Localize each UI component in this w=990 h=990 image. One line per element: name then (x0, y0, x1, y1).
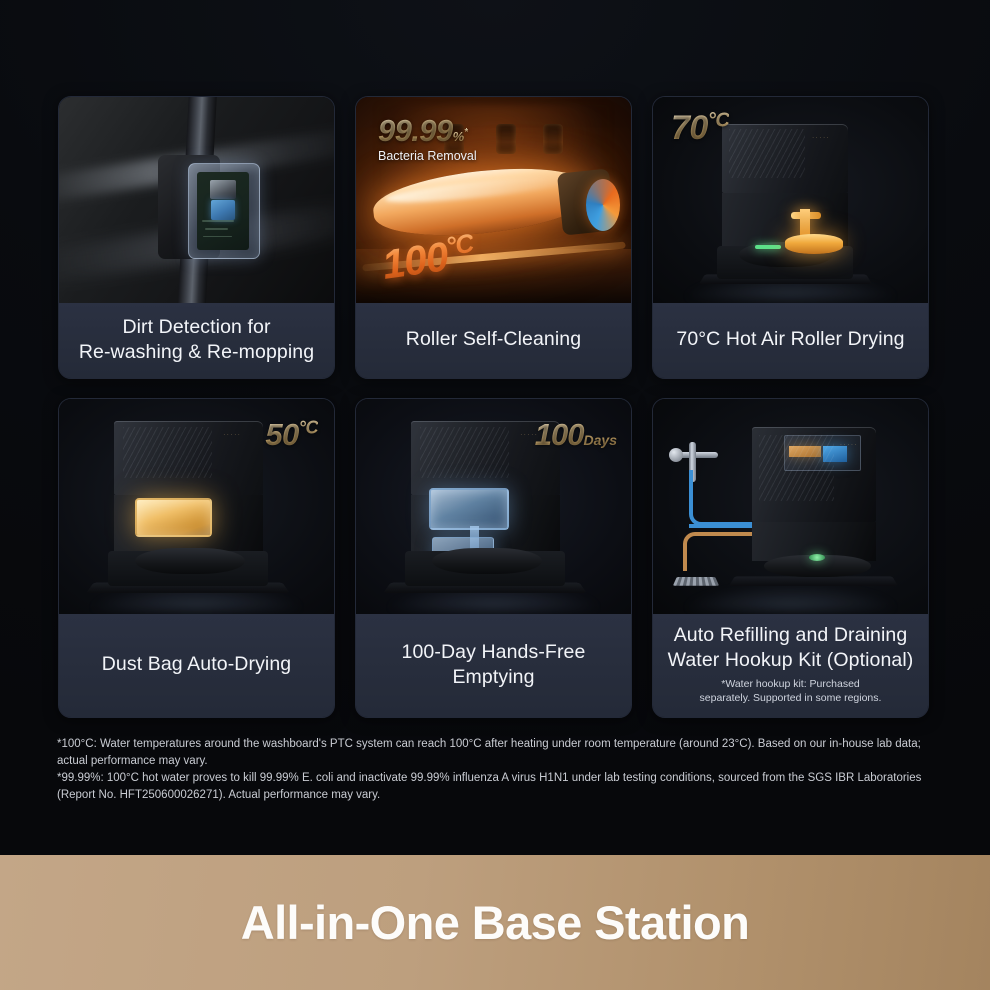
station-mat (729, 577, 898, 587)
large-dust-bag (429, 488, 509, 530)
feature-card-hands-free-emptying[interactable]: ····· 100Days 1 (355, 398, 632, 718)
dirty-water-tank (789, 446, 821, 457)
base-station: ····· (722, 124, 849, 289)
sensor-chip (211, 200, 235, 220)
heated-roller (785, 234, 843, 254)
spray-nozzle (543, 124, 563, 154)
feature-card-roller-self-cleaning[interactable]: 99.99%* Bacteria Removal 100°C Roller Se… (355, 96, 632, 379)
feature-card-auto-refilling-draining[interactable]: ····· Auto Refilling and Draining Water … (652, 398, 929, 718)
base-station: ····· (114, 421, 263, 597)
dirt-sensor-housing (188, 163, 260, 259)
feature-card-grid: Dirt Detection for Re-washing & Re-moppi… (58, 96, 934, 718)
base-station: ····· (752, 427, 876, 590)
faucet-knob (669, 448, 683, 462)
spray-nozzle (444, 124, 464, 154)
status-led (755, 245, 781, 249)
card-disclaimer: *Water hookup kit: Purchased separately.… (700, 678, 882, 706)
dust-bag-capacity-illustration: ····· (356, 399, 631, 614)
station-top-panel: ····· (114, 421, 263, 495)
footnotes: *100°C: Water temperatures around the wa… (57, 736, 933, 804)
station-top-panel: ····· (722, 124, 849, 193)
temperature-ring-icon (586, 179, 620, 231)
circuit-board (197, 172, 249, 250)
brand-logo: ····· (812, 135, 830, 141)
pcb-trace (203, 236, 231, 238)
card-caption-auto-refilling-draining: Auto Refilling and Draining Water Hookup… (653, 614, 928, 717)
dust-bag-drying-illustration: ····· (59, 399, 334, 614)
card-image-hands-free-emptying: ····· 100Days (356, 399, 631, 614)
robot-vacuum (432, 548, 542, 574)
disclaimer-line-2: separately. Supported in some regions. (700, 692, 882, 704)
robot-vacuum (135, 548, 245, 574)
sensor-module-illustration (59, 97, 334, 303)
spray-nozzle (496, 124, 516, 154)
hot-roller-illustration (356, 97, 631, 303)
bottom-banner: All-in-One Base Station (0, 855, 990, 990)
caption-line-1: Dust Bag Auto-Drying (102, 652, 292, 677)
brand-logo: ····· (520, 432, 538, 438)
caption-line-1: Dirt Detection for (122, 316, 270, 338)
water-hookup-illustration: ····· (653, 399, 928, 614)
feature-card-dirt-detection[interactable]: Dirt Detection for Re-washing & Re-moppi… (58, 96, 335, 379)
station-top-panel: ····· (752, 427, 876, 522)
footnote-9999: *99.99%: 100°C hot water proves to kill … (57, 770, 933, 803)
page-root: Dirt Detection for Re-washing & Re-moppi… (0, 0, 990, 990)
feature-card-hot-air-roller-drying[interactable]: ····· 70°C 70 (652, 96, 929, 379)
floor-drain (673, 577, 719, 586)
sensor-lens (210, 180, 236, 199)
card-image-hot-air-roller-drying: ····· 70°C (653, 97, 928, 303)
base-station: ····· (411, 421, 560, 597)
brand-logo: ····· (223, 432, 241, 438)
caption-line-1: 70°C Hot Air Roller Drying (676, 327, 904, 352)
card-caption-dirt-detection: Dirt Detection for Re-washing & Re-moppi… (59, 303, 334, 378)
caption-line-2: Water Hookup Kit (Optional) (668, 649, 914, 671)
caption-line-2: Re-washing & Re-mopping (79, 341, 314, 363)
disclaimer-line-1: *Water hookup kit: Purchased (721, 678, 860, 690)
card-caption-hands-free-emptying: 100-Day Hands-Free Emptying (356, 614, 631, 717)
feature-card-dust-bag-auto-drying[interactable]: ····· 50°C Dust Bag Auto-Drying (58, 398, 335, 718)
card-image-dirt-detection (59, 97, 334, 303)
base-station-drying-illustration: ····· (653, 97, 928, 303)
card-caption-dust-bag-auto-drying: Dust Bag Auto-Drying (59, 614, 334, 717)
pcb-trace (202, 220, 233, 222)
tank-window (784, 435, 861, 471)
glowing-dust-bag (135, 498, 212, 537)
caption-line-1: Roller Self-Cleaning (406, 327, 581, 352)
card-image-auto-refilling-draining: ····· (653, 399, 928, 614)
station-top-panel: ····· (411, 421, 560, 495)
clean-water-tank (823, 446, 848, 462)
card-image-roller-self-cleaning: 99.99%* Bacteria Removal 100°C (356, 97, 631, 303)
banner-title: All-in-One Base Station (241, 895, 749, 950)
footnote-100c: *100°C: Water temperatures around the wa… (57, 736, 933, 769)
robot-sensor-turret (809, 554, 825, 561)
card-image-dust-bag-auto-drying: ····· 50°C (59, 399, 334, 614)
caption-line-1: Auto Refilling and Draining (674, 624, 908, 646)
card-caption-hot-air-roller-drying: 70°C Hot Air Roller Drying (653, 303, 928, 378)
brand-logo: ····· (840, 442, 858, 448)
pcb-trace (205, 228, 229, 230)
caption-line-1: 100-Day Hands-Free (402, 641, 586, 663)
card-caption-roller-self-cleaning: Roller Self-Cleaning (356, 303, 631, 378)
caption-line-2: Emptying (452, 666, 534, 688)
